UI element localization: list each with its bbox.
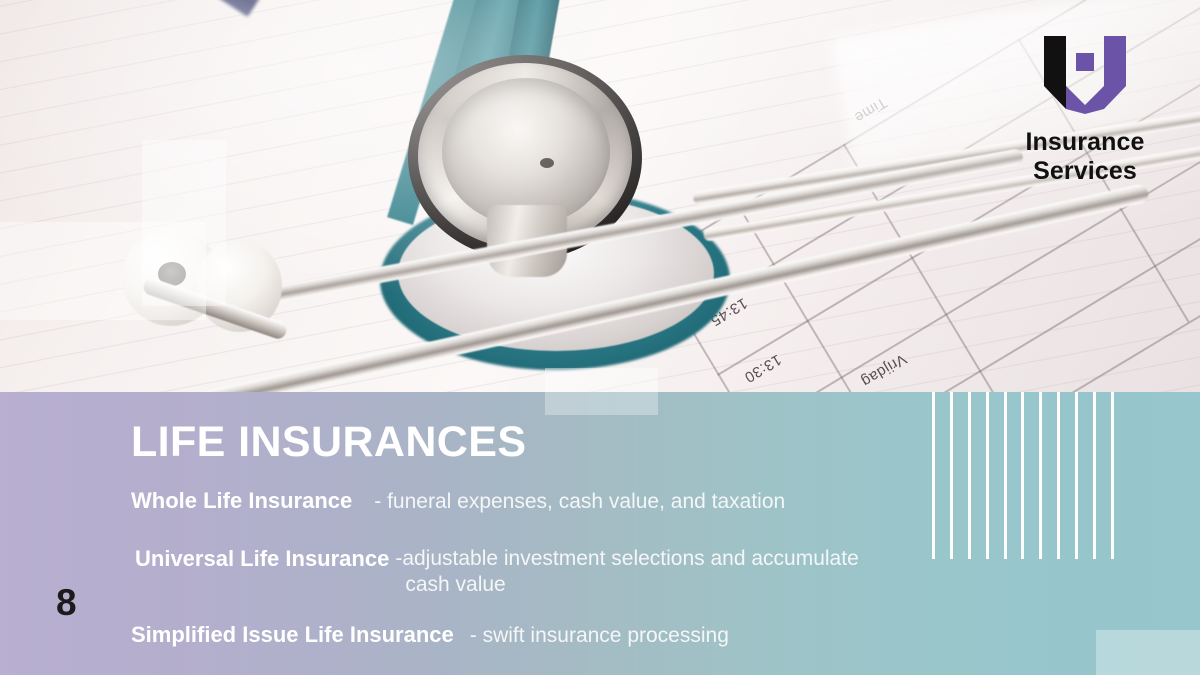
logo-line-2: Services bbox=[1002, 157, 1168, 186]
stripe bbox=[986, 392, 989, 559]
stripe bbox=[1057, 392, 1060, 559]
stripe bbox=[1075, 392, 1078, 559]
list-item: Whole Life Insurance- funeral expenses, … bbox=[131, 488, 785, 514]
bullet-description-line-1: -adjustable investment selections and ac… bbox=[395, 547, 858, 570]
stripe bbox=[932, 392, 935, 559]
logo-line-1: Insurance bbox=[1002, 128, 1168, 157]
bullet-term: Universal Life Insurance bbox=[135, 546, 389, 572]
stripe bbox=[1039, 392, 1042, 559]
list-item: Universal Life Insurance -adjustable inv… bbox=[135, 546, 859, 597]
page-number: 8 bbox=[56, 582, 77, 624]
overlay-rect-4 bbox=[545, 392, 658, 415]
stripe bbox=[1021, 392, 1024, 559]
page-title: LIFE INSURANCES bbox=[131, 418, 526, 467]
overlay-rect-5 bbox=[1096, 630, 1200, 675]
stripe bbox=[1004, 392, 1007, 559]
stripe bbox=[1111, 392, 1114, 559]
slide: 14:00 13:45 13:30 Time Vrijdag Datum bbox=[0, 0, 1200, 675]
bullet-description: - funeral expenses, cash value, and taxa… bbox=[374, 490, 785, 513]
bullet-description-line-2: cash value bbox=[405, 572, 858, 598]
bullet-term: Simplified Issue Life Insurance bbox=[131, 622, 454, 647]
bullet-term: Whole Life Insurance bbox=[131, 488, 352, 513]
list-item: Simplified Issue Life Insurance- swift i… bbox=[131, 622, 729, 648]
vertical-stripes-decoration bbox=[932, 392, 1114, 559]
stripe bbox=[1093, 392, 1096, 559]
logo-text: Insurance Services bbox=[1002, 128, 1168, 187]
shield-u-logo-icon bbox=[1040, 36, 1130, 114]
stripe bbox=[968, 392, 971, 559]
brand-logo[interactable]: Insurance Services bbox=[1002, 36, 1168, 187]
bullet-description: - swift insurance processing bbox=[470, 624, 729, 647]
bullet-description: -adjustable investment selections and ac… bbox=[395, 546, 858, 597]
stripe bbox=[950, 392, 953, 559]
